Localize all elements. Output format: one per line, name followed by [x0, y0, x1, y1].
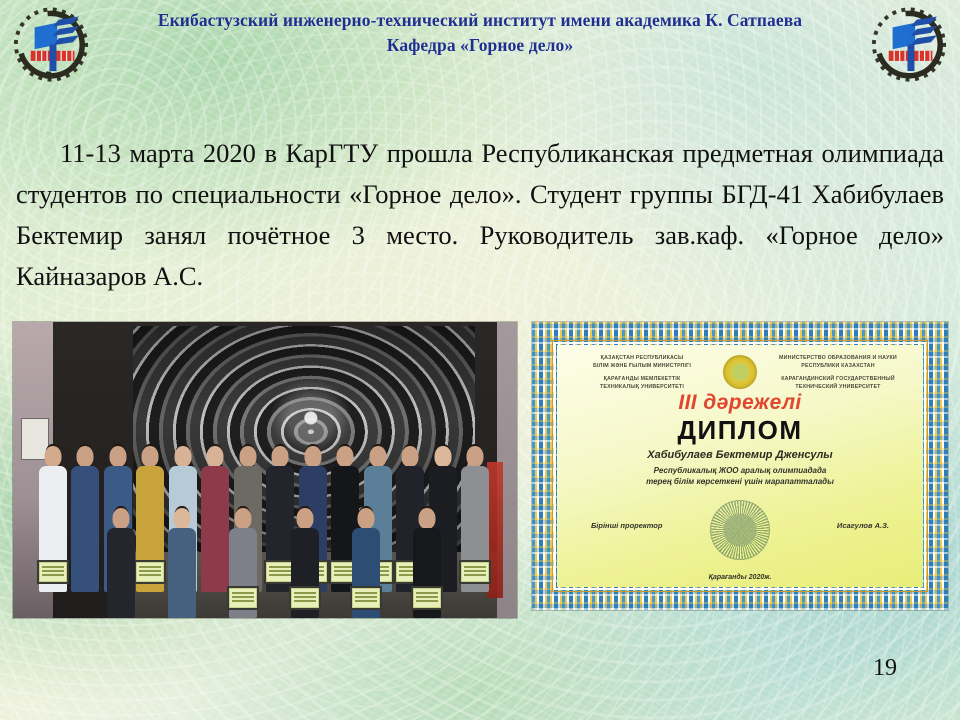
diploma-signatory-title: Бірінші проректор — [591, 521, 662, 530]
diploma-ru-line3: КАРАГАНДИНСКИЙ ГОСУДАРСТВЕННЫЙ — [781, 376, 895, 382]
slide-body-paragraph: 11-13 марта 2020 в КарГТУ прошла Республ… — [16, 133, 944, 297]
kazakhstan-emblem-icon — [723, 355, 757, 389]
person — [213, 504, 273, 618]
photo-front-row — [91, 504, 457, 618]
diploma-recipient-name: Хабибулаев Бектемир Дженсулы — [557, 449, 923, 461]
slide-header: Екибастузский инженерно-технический инст… — [0, 0, 960, 86]
institute-title: Екибастузский инженерно-технический инст… — [92, 8, 868, 33]
diploma-image: ҚАЗАҚСТАН РЕСПУБЛИКАСЫ БІЛІМ ЖӘНЕ ҒЫЛЫМ … — [532, 322, 948, 610]
person — [91, 504, 151, 618]
institute-logo-left-icon — [12, 4, 90, 82]
header-title-block: Екибастузский инженерно-технический инст… — [92, 8, 868, 58]
diploma-kz-line1: ҚАЗАҚСТАН РЕСПУБЛИКАСЫ — [601, 355, 684, 361]
official-seal-icon — [710, 500, 770, 560]
diploma-paper: ҚАЗАҚСТАН РЕСПУБЛИКАСЫ БІЛІМ ЖӘНЕ ҒЫЛЫМ … — [557, 345, 923, 587]
diploma-place-date: Қарағанды 2020ж. — [557, 574, 923, 581]
diploma-ru-line1: МИНИСТЕРСТВО ОБРАЗОВАНИЯ И НАУКИ — [779, 355, 897, 361]
department-title: Кафедра «Горное дело» — [92, 33, 868, 58]
diploma-reason: Республикалық ЖОО аралық олимпиадада тер… — [557, 465, 923, 487]
diploma-signatory-name: Исагулов А.З. — [837, 521, 889, 530]
diploma-ru-line4: ТЕХНИЧЕСКИЙ УНИВЕРСИТЕТ — [795, 384, 880, 390]
person — [37, 442, 69, 592]
diploma-kz-line2: БІЛІМ ЖӘНЕ ҒЫЛЫМ МИНИСТРЛІГІ — [593, 363, 691, 369]
person — [152, 504, 212, 618]
person — [275, 504, 335, 618]
diploma-reason-line2: терең білім көрсеткені үшін марапатталад… — [646, 477, 834, 486]
diploma-header-kazakh: ҚАЗАҚСТАН РЕСПУБЛИКАСЫ БІЛІМ ЖӘНЕ ҒЫЛЫМ … — [567, 354, 717, 391]
diploma-ru-line2: РЕСПУБЛИКИ КАЗАХСТАН — [801, 363, 874, 369]
diploma-header-row: ҚАЗАҚСТАН РЕСПУБЛИКАСЫ БІЛІМ ЖӘНЕ ҒЫЛЫМ … — [557, 354, 923, 391]
person — [336, 504, 396, 618]
group-photo-image — [13, 322, 517, 618]
diploma-degree: III дәрежелі — [557, 391, 923, 415]
diploma-header-russian: МИНИСТЕРСТВО ОБРАЗОВАНИЯ И НАУКИ РЕСПУБЛ… — [763, 354, 913, 391]
presentation-slide: Екибастузский инженерно-технический инст… — [0, 0, 960, 720]
page-number: 19 — [873, 655, 897, 682]
person — [397, 504, 457, 618]
diploma-reason-line1: Республикалық ЖОО аралық олимпиадада — [654, 466, 827, 475]
person — [460, 442, 492, 592]
diploma-kz-line4: ТЕХНИКАЛЫҚ УНИВЕРСИТЕТІ — [600, 384, 684, 390]
diploma-kz-line3: ҚАРАҒАНДЫ МЕМЛЕКЕТТІК — [604, 376, 681, 382]
institute-logo-right-icon — [870, 4, 948, 82]
diploma-title: ДИПЛОМ — [557, 415, 923, 446]
